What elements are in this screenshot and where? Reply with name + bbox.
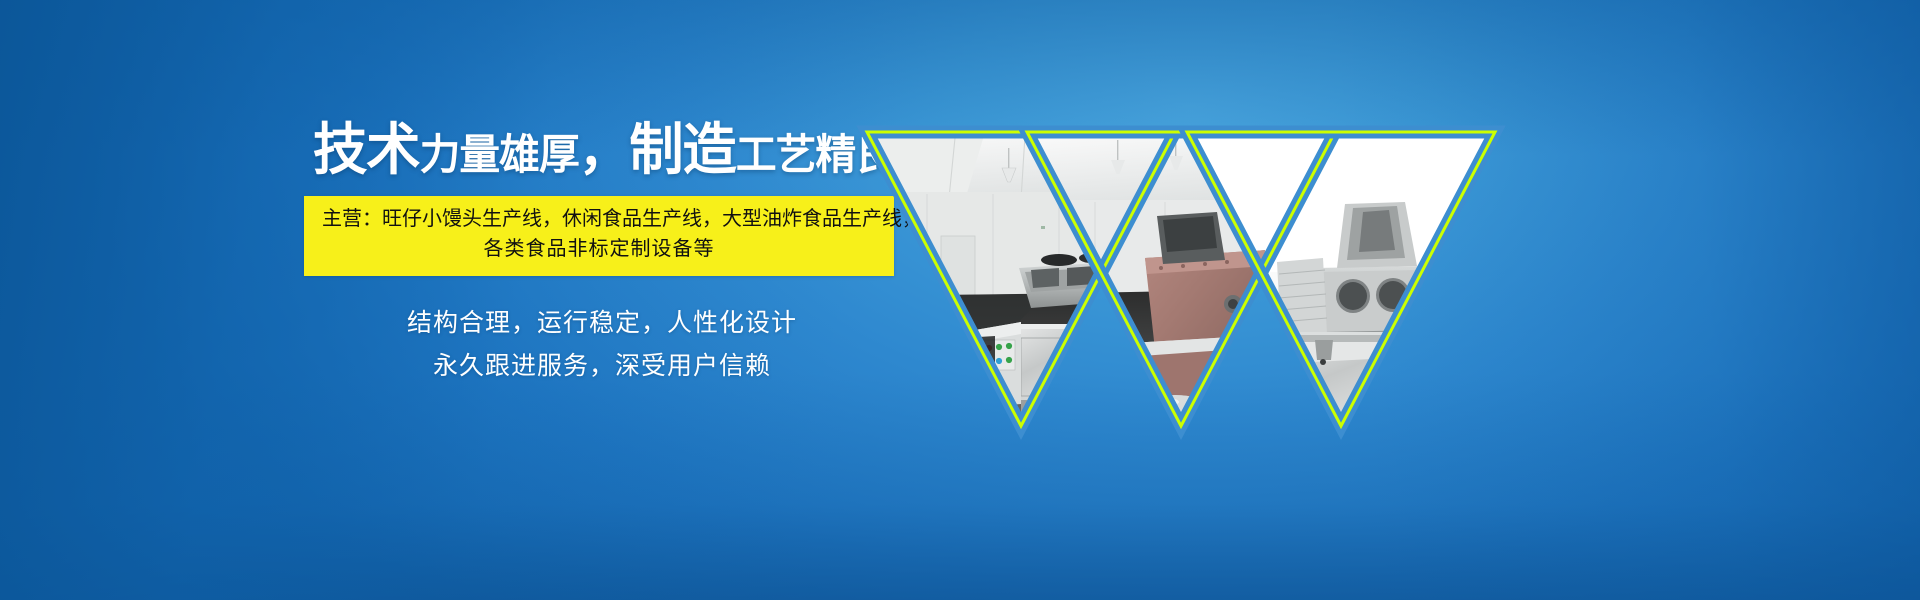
page-title: 技术力量雄厚，制造工艺精良 [313, 120, 891, 180]
highlight-line-2: 各类食品非标定制设备等 [322, 235, 876, 265]
headline-comma: ， [579, 123, 629, 181]
text-column: 技术力量雄厚，制造工艺精良 主营：旺仔小馒头生产线，休闲食品生产线，大型油炸食品… [300, 120, 900, 388]
highlight-line-1: 主营：旺仔小馒头生产线，休闲食品生产线，大型油炸食品生产线， [322, 205, 876, 235]
headline-part2: 力量雄厚 [420, 131, 579, 178]
promo-banner: 技术力量雄厚，制造工艺精良 主营：旺仔小馒头生产线，休闲食品生产线，大型油炸食品… [0, 0, 1920, 600]
tagline-1: 结构合理，运行稳定，人性化设计 [304, 302, 900, 345]
photo-triangle-cluster [845, 108, 1525, 428]
tagline-group: 结构合理，运行稳定，人性化设计 永久跟进服务，深受用户信赖 [304, 302, 900, 388]
tagline-2: 永久跟进服务，深受用户信赖 [304, 345, 900, 388]
highlight-box: 主营：旺仔小馒头生产线，休闲食品生产线，大型油炸食品生产线， 各类食品非标定制设… [304, 196, 894, 275]
headline-part3: 制造 [629, 118, 736, 181]
headline-part1: 技术 [313, 118, 420, 181]
